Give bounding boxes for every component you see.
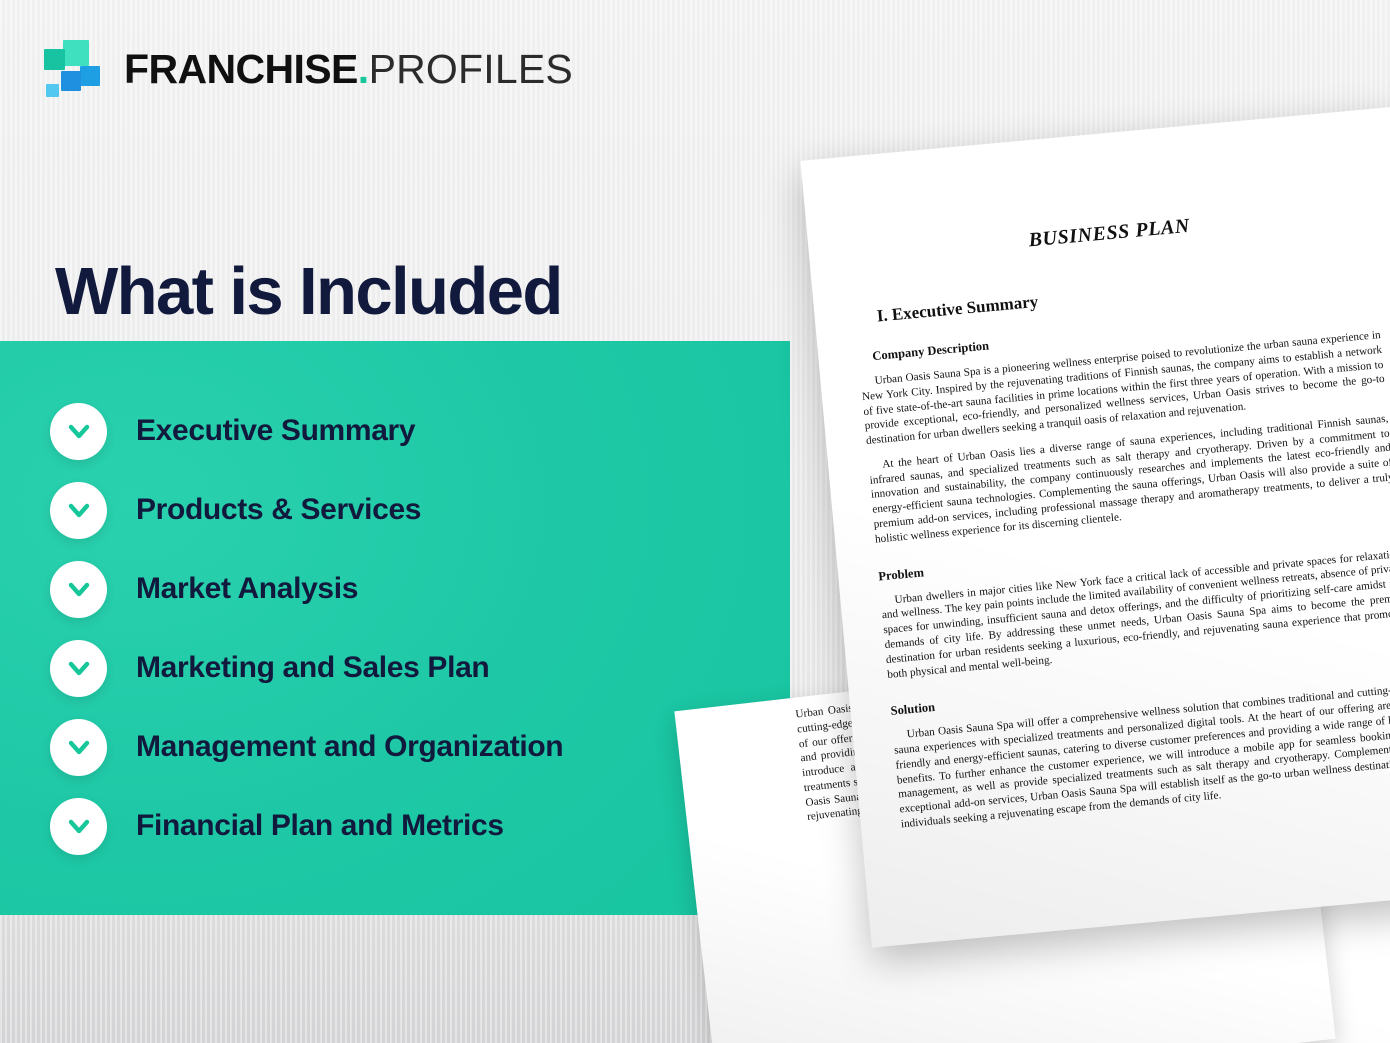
business-plan-document-stack[interactable]: as the go-to urban wellness destination … xyxy=(640,120,1390,1043)
logo-word-profiles: PROFILES xyxy=(369,49,573,90)
chevron-down-icon xyxy=(50,561,107,618)
chevron-down-icon xyxy=(50,719,107,776)
list-item-label: Management and Organization xyxy=(136,730,563,764)
logo-word-franchise: FRANCHISE xyxy=(124,49,358,90)
list-item-label: Financial Plan and Metrics xyxy=(136,809,504,843)
logo-squares-icon xyxy=(44,40,106,98)
logo-word-dot: . xyxy=(358,49,369,90)
list-item-label: Executive Summary xyxy=(136,414,415,448)
chevron-down-icon xyxy=(50,482,107,539)
list-item-label: Market Analysis xyxy=(136,572,358,606)
brand-logo[interactable]: FRANCHISE.PROFILES xyxy=(44,40,573,98)
logo-square-teal-large xyxy=(63,40,89,66)
page-title: What is Included xyxy=(55,257,562,327)
chevron-down-icon xyxy=(50,798,107,855)
logo-square-blue-right xyxy=(80,66,100,86)
document-page-front: BUSINESS PLAN I. Executive Summary Compa… xyxy=(800,106,1390,947)
chevron-down-icon xyxy=(50,403,107,460)
list-item-label: Products & Services xyxy=(136,493,421,527)
logo-square-green xyxy=(44,49,65,70)
document-title: BUSINESS PLAN xyxy=(848,199,1370,269)
document-content: BUSINESS PLAN I. Executive Summary Compa… xyxy=(800,106,1390,947)
logo-square-blue-center xyxy=(61,71,81,91)
chevron-down-icon xyxy=(50,640,107,697)
list-item-label: Marketing and Sales Plan xyxy=(136,651,489,685)
slide-canvas: FRANCHISE.PROFILES What is Included Exec… xyxy=(0,0,1390,1043)
logo-wordmark: FRANCHISE.PROFILES xyxy=(124,49,573,90)
logo-square-lightblue-small xyxy=(46,84,59,97)
